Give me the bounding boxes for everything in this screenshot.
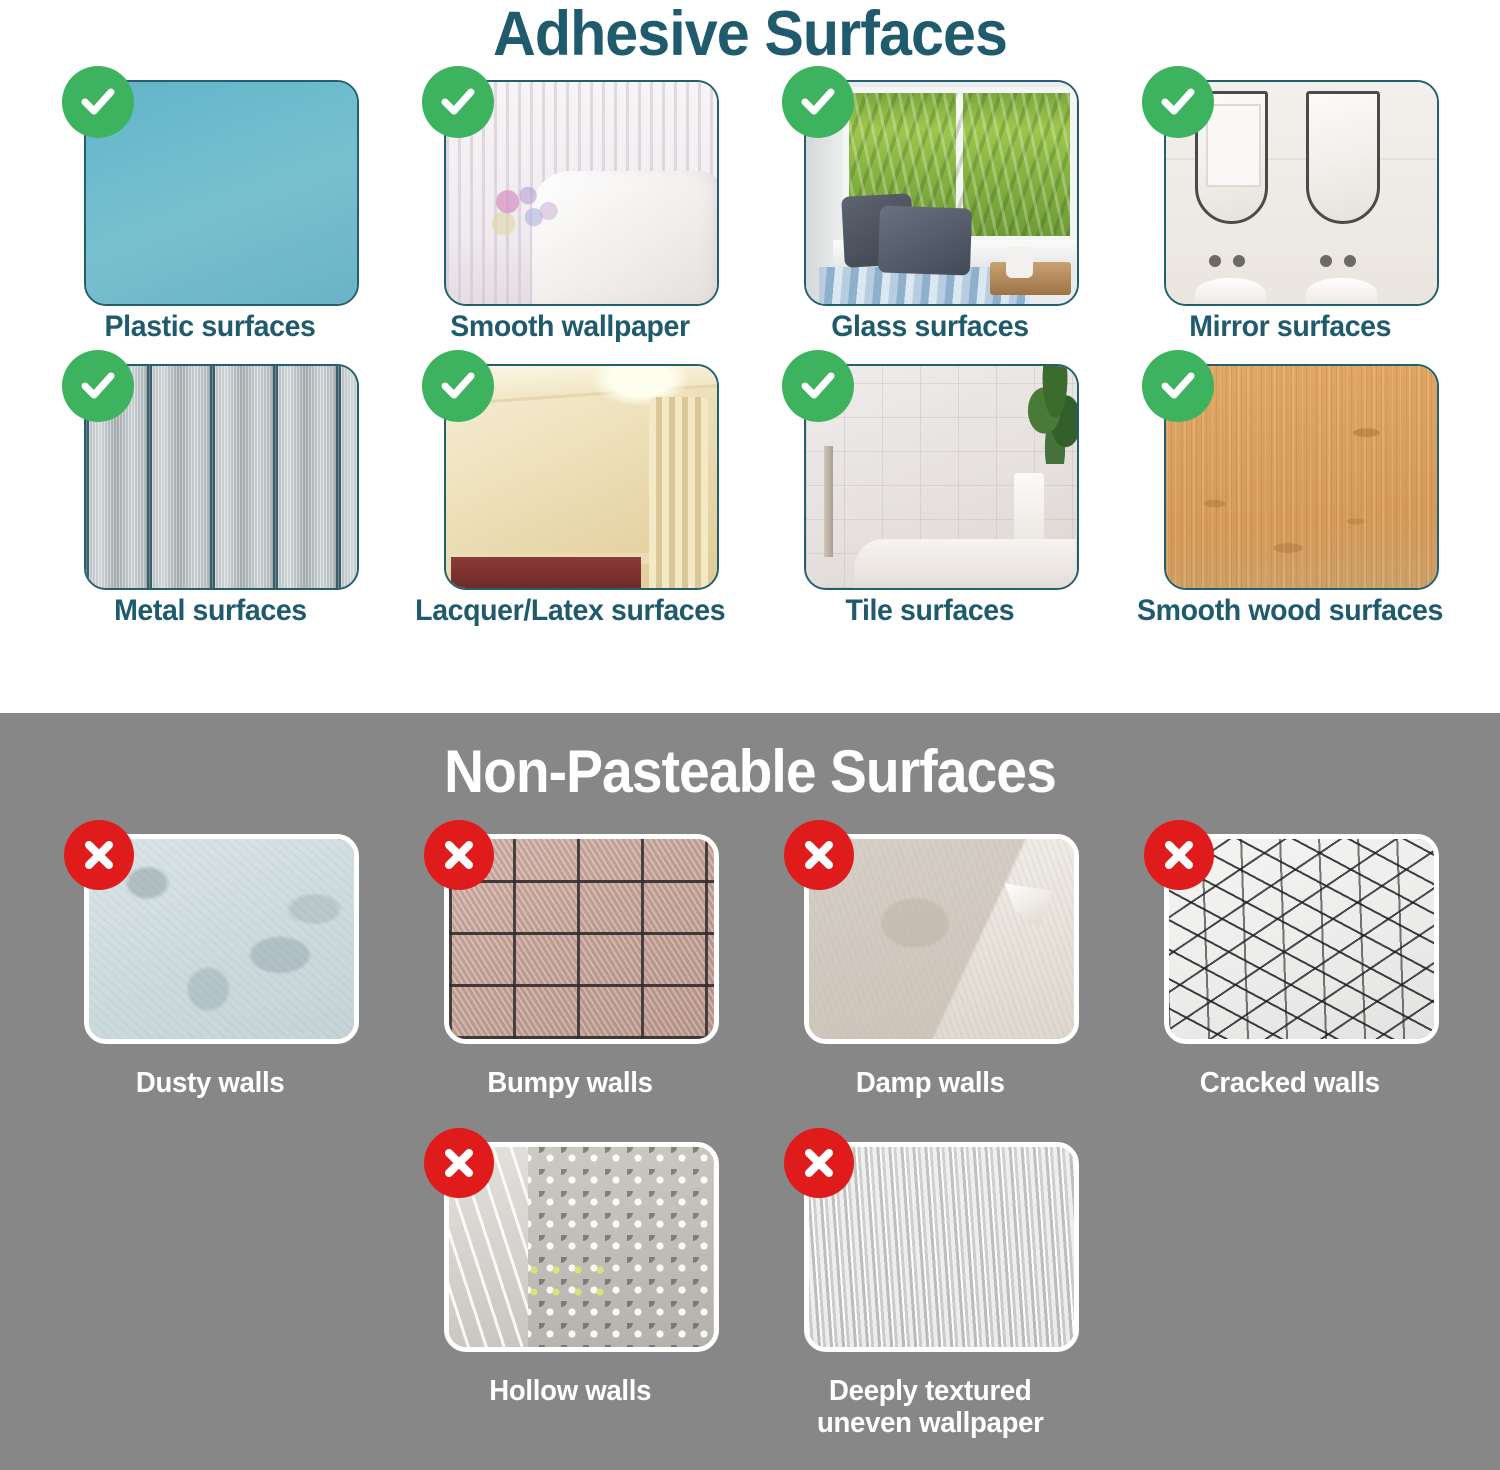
thumbnail-wrapper (782, 350, 1079, 590)
bathtub (854, 539, 1076, 588)
surface-label-line-2: uneven wallpaper (817, 1408, 1044, 1440)
cross-icon (424, 1128, 494, 1198)
floral-decal (483, 180, 564, 242)
thumbnail-wrapper (62, 820, 359, 1060)
non-pasteable-surfaces-section: Non-Pasteable Surfaces Dusty walls (0, 713, 1500, 1470)
surface-label: Glass surfaces (831, 310, 1028, 344)
check-icon (62, 350, 134, 422)
non-pasteable-row-1: Dusty walls Bumpy walls (0, 820, 1500, 1100)
adhesive-section-title: Adhesive Surfaces (45, 0, 1455, 66)
thumbnail-wrapper (1142, 820, 1439, 1060)
thumbnail-wrapper (62, 66, 359, 306)
towel-rail (824, 446, 832, 557)
surface-label: Plastic surfaces (105, 310, 316, 344)
surface-label: Smooth wood surfaces (1137, 594, 1443, 628)
cross-icon (784, 820, 854, 890)
check-icon (1142, 350, 1214, 422)
perforated-screen (517, 1147, 713, 1347)
surface-card-smooth-wood: Smooth wood surfaces (1110, 350, 1470, 628)
thumbnail-wrapper (1142, 66, 1439, 306)
faucet (1344, 255, 1356, 267)
surface-card-metal: Metal surfaces (30, 350, 390, 628)
surface-card-hollow-walls: Hollow walls (390, 1128, 750, 1440)
surface-card-deeply-textured-wallpaper: Deeply textured uneven wallpaper (750, 1128, 1110, 1440)
paint-flake (1005, 883, 1053, 927)
thumbnail-wrapper (422, 820, 719, 1060)
surface-label: Metal surfaces (114, 594, 307, 628)
sink (1195, 278, 1265, 307)
thumbnail-wrapper (422, 350, 719, 590)
pillow (878, 205, 972, 275)
cross-icon (784, 1128, 854, 1198)
surface-label: Bumpy walls (487, 1068, 652, 1100)
plant (1028, 364, 1079, 464)
cross-icon (64, 820, 134, 890)
surface-label: Dusty walls (136, 1068, 284, 1100)
thumbnail-wrapper (782, 66, 1079, 306)
thumbnail-wrapper (782, 820, 1079, 1060)
thumbnail-wrapper (1142, 350, 1439, 590)
thumbnail-wrapper (782, 1128, 1079, 1368)
cross-icon (424, 820, 494, 890)
curtain (649, 397, 709, 588)
surface-card-smooth-wallpaper: Smooth wallpaper (390, 66, 750, 344)
surface-label: Mirror surfaces (1189, 310, 1391, 344)
surface-card-cracked-walls: Cracked walls (1110, 820, 1470, 1100)
surface-label: Tile surfaces (846, 594, 1015, 628)
surface-label-multiline: Deeply textured uneven wallpaper (817, 1376, 1044, 1440)
bed (451, 557, 641, 588)
sink (1306, 278, 1376, 307)
faucet (1209, 255, 1221, 267)
adhesive-row-1: Plastic surfaces Smooth wallpaper (0, 66, 1500, 344)
surface-card-glass: Glass surfaces (750, 66, 1110, 344)
surface-card-mirror: Mirror surfaces (1110, 66, 1470, 344)
non-pasteable-row-2: Hollow walls Deeply textured uneven wall… (0, 1128, 1500, 1440)
check-icon (782, 350, 854, 422)
check-icon (62, 66, 134, 138)
yellow-glow (523, 1259, 618, 1299)
mirror (1306, 91, 1379, 224)
adhesive-surfaces-section: Adhesive Surfaces Plastic surfaces (0, 0, 1500, 713)
thumbnail-wrapper (422, 66, 719, 306)
thumbnail-wrapper (62, 350, 359, 590)
surface-card-dusty-walls: Dusty walls (30, 820, 390, 1100)
surface-label: Damp walls (856, 1068, 1005, 1100)
cup (1006, 247, 1033, 278)
adhesive-row-2: Metal surfaces (0, 350, 1500, 628)
surface-label: Hollow walls (489, 1376, 651, 1408)
surface-card-tile: Tile surfaces (750, 350, 1110, 628)
infographic-page: Adhesive Surfaces Plastic surfaces (0, 0, 1500, 1470)
surface-card-plastic: Plastic surfaces (30, 66, 390, 344)
surface-card-bumpy-walls: Bumpy walls (390, 820, 750, 1100)
non-pasteable-section-title: Non-Pasteable Surfaces (60, 713, 1440, 802)
check-icon (422, 350, 494, 422)
check-icon (782, 66, 854, 138)
surface-label-line-1: Deeply textured (817, 1376, 1044, 1408)
check-icon (422, 66, 494, 138)
surface-card-damp-walls: Damp walls (750, 820, 1110, 1100)
check-icon (1142, 66, 1214, 138)
surface-card-lacquer-latex: Lacquer/Latex surfaces (390, 350, 750, 628)
surface-label: Lacquer/Latex surfaces (415, 594, 725, 628)
faucet (1233, 255, 1245, 267)
thumbnail-wrapper (422, 1128, 719, 1368)
faucet (1320, 255, 1332, 267)
surface-label: Smooth wallpaper (450, 310, 689, 344)
cross-icon (1144, 820, 1214, 890)
surface-label: Cracked walls (1200, 1068, 1380, 1100)
